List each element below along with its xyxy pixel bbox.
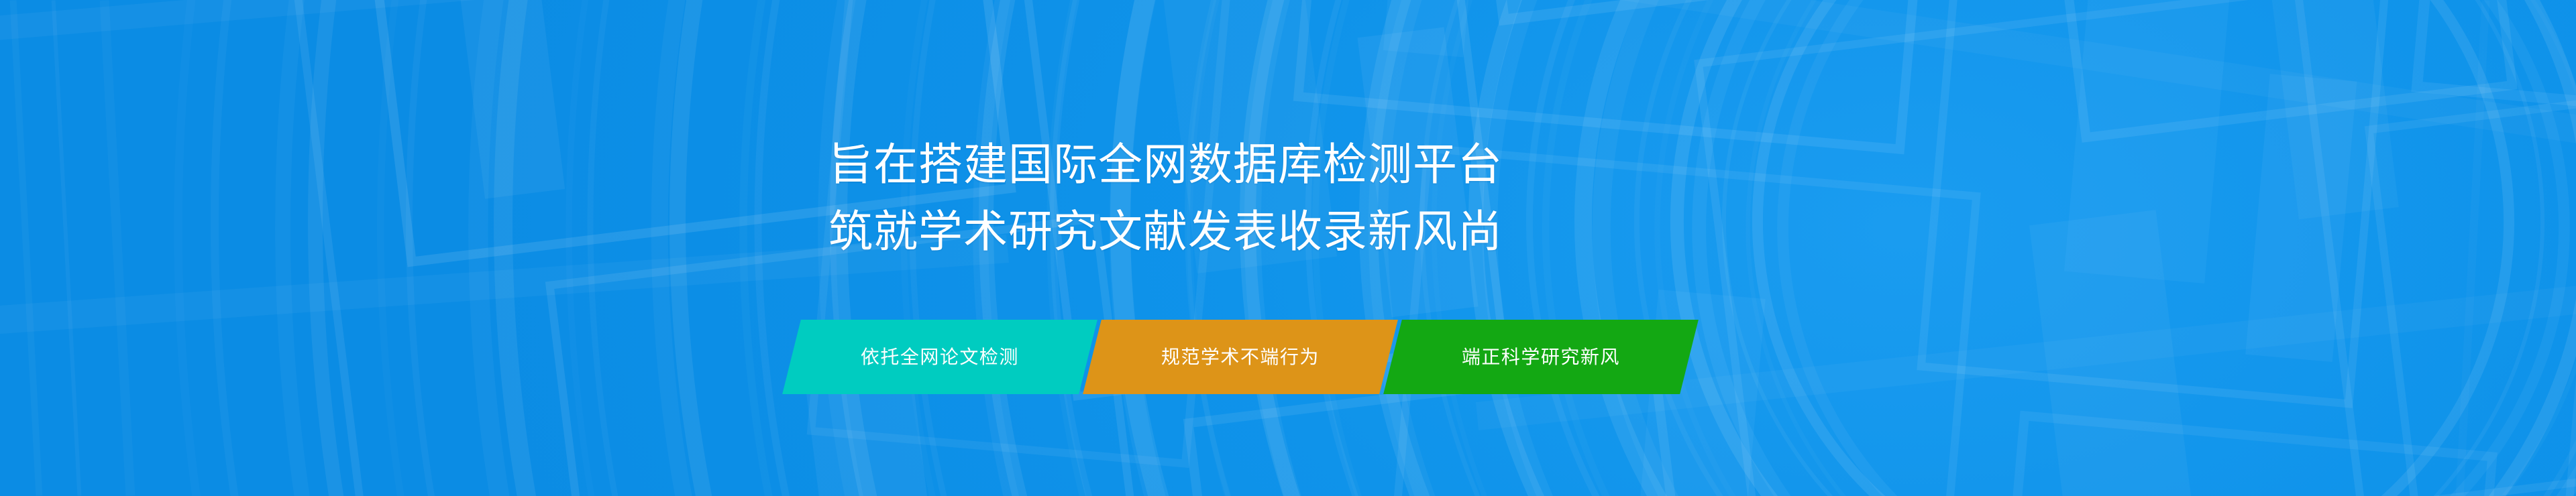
feature-tag-strip: 依托全网论文检测 规范学术不端行为 端正科学研究新风 bbox=[792, 320, 1689, 394]
tag-paper-detection-label: 依托全网论文检测 bbox=[830, 348, 1050, 367]
headline-block: 旨在搭建国际全网数据库检测平台 筑就学术研究文献发表收录新风尚 bbox=[0, 131, 1503, 265]
headline-line-1: 旨在搭建国际全网数据库检测平台 bbox=[0, 131, 1503, 198]
headline-line-2: 筑就学术研究文献发表收录新风尚 bbox=[309, 198, 1503, 265]
tag-academic-misconduct-label: 规范学术不端行为 bbox=[1130, 348, 1350, 367]
tag-research-ethos[interactable]: 端正科学研究新风 bbox=[1383, 320, 1699, 394]
tag-academic-misconduct[interactable]: 规范学术不端行为 bbox=[1083, 320, 1398, 394]
promo-banner: 旨在搭建国际全网数据库检测平台 筑就学术研究文献发表收录新风尚 依托全网论文检测… bbox=[0, 0, 2576, 496]
tag-research-ethos-label: 端正科学研究新风 bbox=[1431, 348, 1651, 367]
tag-paper-detection[interactable]: 依托全网论文检测 bbox=[782, 320, 1097, 394]
